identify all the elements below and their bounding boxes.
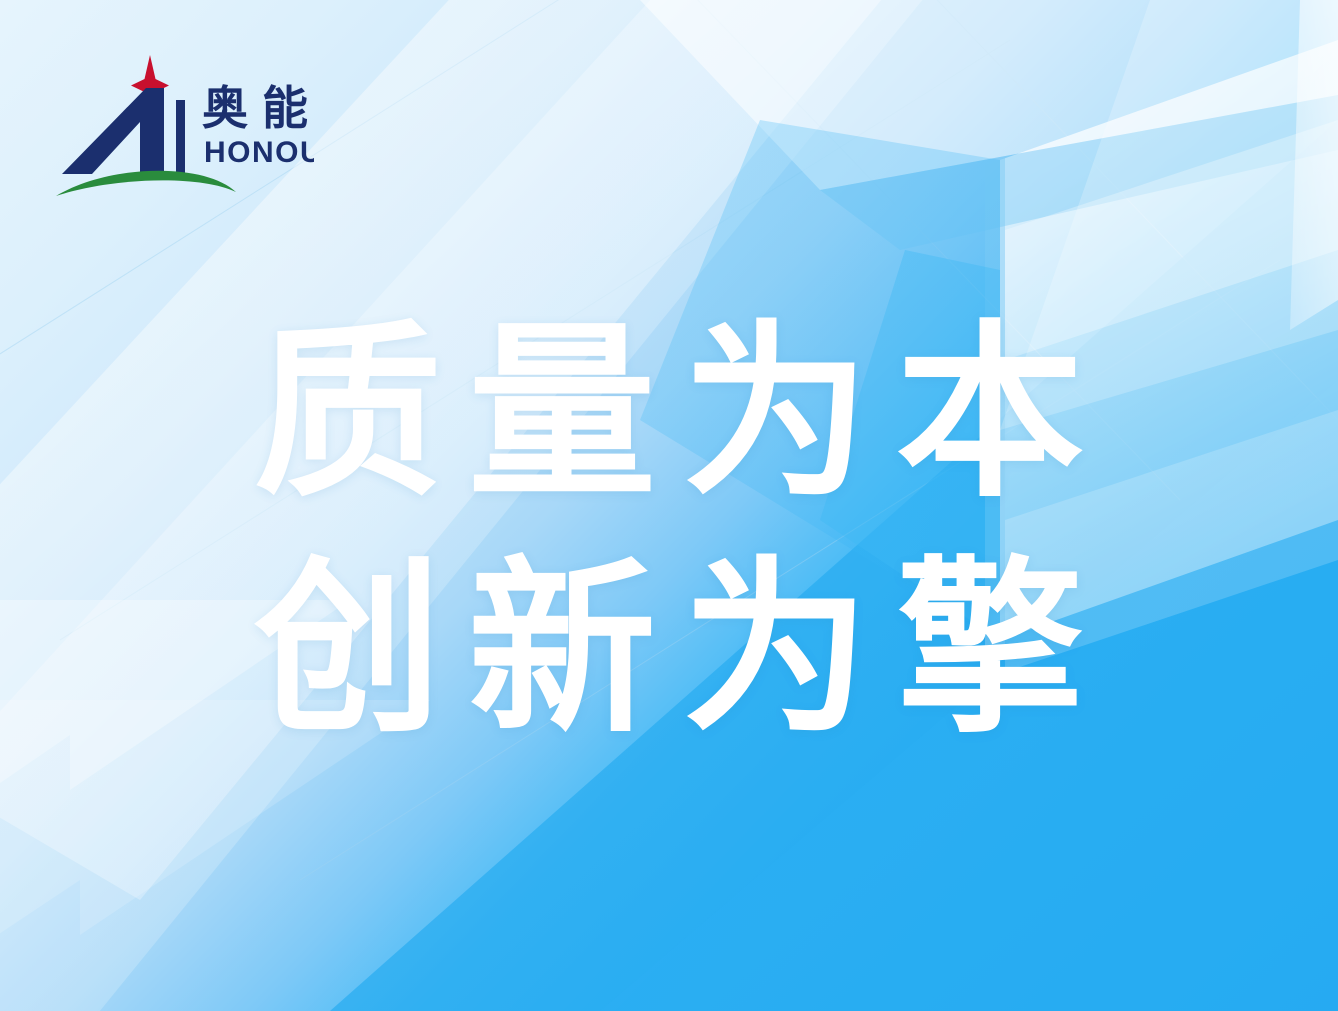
headline-line-2: 创新为擎 bbox=[0, 532, 1338, 768]
headline-line-1: 质量为本 bbox=[0, 296, 1338, 532]
a-monogram-bar bbox=[176, 100, 185, 174]
slogan-banner: 奥能 HONOUR 质量为本 创新为擎 bbox=[0, 0, 1338, 1011]
a-monogram-mark bbox=[62, 88, 164, 174]
headline-block: 质量为本 创新为擎 bbox=[0, 296, 1338, 768]
logo-chinese-text: 奥能 bbox=[202, 81, 314, 135]
green-arc-icon bbox=[56, 171, 236, 196]
logo-english-text: HONOUR bbox=[204, 136, 314, 169]
honour-logo[interactable]: 奥能 HONOUR bbox=[54, 52, 314, 202]
